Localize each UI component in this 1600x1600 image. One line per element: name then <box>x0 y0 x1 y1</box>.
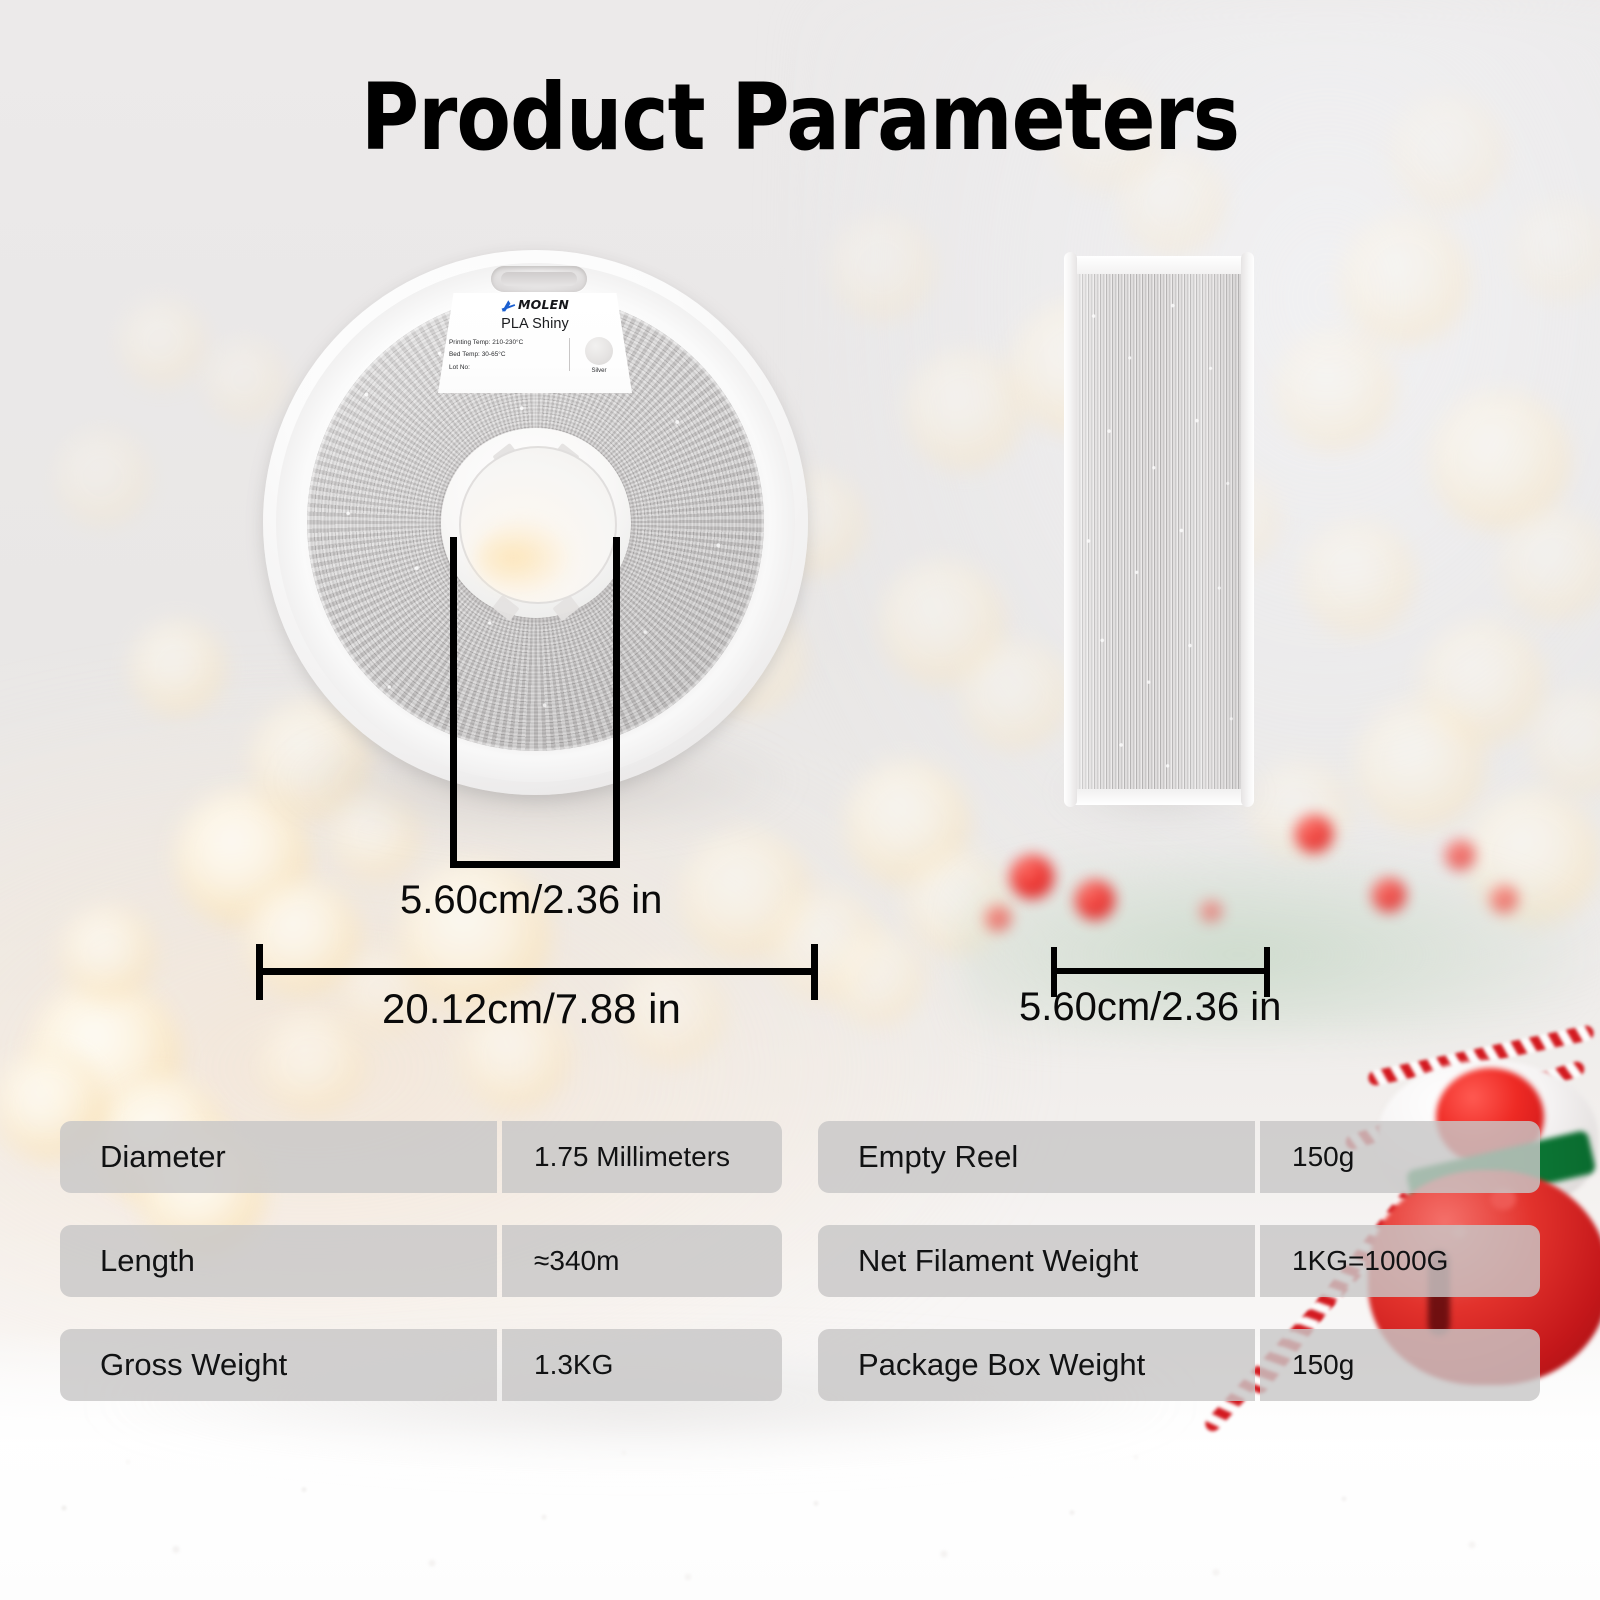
dim-bar <box>450 861 620 868</box>
spec-key-cell: Net Filament Weight <box>818 1225 1255 1297</box>
color-swatch-circle <box>585 337 613 365</box>
spec-pair: Empty Reel150g <box>800 1121 1540 1193</box>
red-berry <box>1295 815 1333 853</box>
dimension-label-spool-thickness: 5.60cm/2.36 in <box>1019 985 1281 1030</box>
spec-key-cell: Gross Weight <box>60 1329 497 1401</box>
label-spec-list: Printing Temp: 210-230°C Bed Temp: 30-65… <box>449 337 567 374</box>
bokeh-light <box>1275 330 1395 450</box>
side-spool-top-lip <box>1068 256 1250 274</box>
brand-logo: MOLEN <box>501 298 569 313</box>
spec-value-cell: 1KG=1000G <box>1260 1225 1540 1297</box>
side-spool-flange-right <box>1241 252 1254 807</box>
spec-key-cell: Length <box>60 1225 497 1297</box>
dim-tick-right <box>613 537 620 867</box>
dim-bar <box>256 968 818 975</box>
spec-pair: Package Box Weight150g <box>800 1329 1540 1401</box>
spec-key-cell: Diameter <box>60 1121 497 1193</box>
filament-spool-side <box>1064 252 1254 807</box>
brand-a-icon <box>501 299 516 313</box>
spec-value-cell: 1.3KG <box>502 1329 782 1401</box>
red-berry <box>1200 900 1222 922</box>
spec-value-cell: 150g <box>1260 1121 1540 1193</box>
bokeh-light <box>830 930 925 1025</box>
table-row: Diameter1.75 MillimetersEmpty Reel150g <box>60 1121 1540 1193</box>
spec-pair: Net Filament Weight1KG=1000G <box>800 1225 1540 1297</box>
spec-key-cell: Package Box Weight <box>818 1329 1255 1401</box>
table-row: Length≈340mNet Filament Weight1KG=1000G <box>60 1225 1540 1297</box>
spec-pair: Gross Weight1.3KG <box>60 1329 800 1401</box>
filament-spool-front: MOLEN PLA Shiny Printing Temp: 210-230°C… <box>263 250 808 806</box>
spool-label: MOLEN PLA Shiny Printing Temp: 210-230°C… <box>438 293 632 393</box>
red-berry <box>1445 840 1475 870</box>
bokeh-light <box>260 1010 365 1115</box>
bokeh-light <box>55 430 150 525</box>
dim-tick-left <box>450 537 457 867</box>
spec-pair: Length≈340m <box>60 1225 800 1297</box>
red-berry <box>985 905 1011 931</box>
label-divider <box>569 338 570 371</box>
side-spool-flange-left <box>1064 252 1077 807</box>
dimension-label-hub-width: 5.60cm/2.36 in <box>400 878 662 923</box>
side-filament-gloss <box>1073 269 1245 792</box>
hub-warm-glow <box>475 522 571 594</box>
label-material: PLA Shiny <box>501 316 569 332</box>
bokeh-light <box>960 640 1070 750</box>
side-filament-winding <box>1073 269 1245 792</box>
dim-bar <box>1051 968 1270 974</box>
bokeh-light <box>1510 200 1600 300</box>
spool-handle-hole <box>501 272 577 286</box>
label-color-swatch-group: Silver <box>577 337 621 374</box>
red-berry <box>1010 855 1054 899</box>
red-berry <box>1490 885 1518 913</box>
spec-value-cell: 150g <box>1260 1329 1540 1401</box>
label-body: Printing Temp: 210-230°C Bed Temp: 30-65… <box>438 337 632 374</box>
spec-pair: Diameter1.75 Millimeters <box>60 1121 800 1193</box>
brand-name: MOLEN <box>518 299 569 312</box>
spec-value-cell: ≈340m <box>502 1225 782 1297</box>
label-bed-temp: Bed Temp: 30-65°C <box>449 349 567 361</box>
label-color-name: Silver <box>591 368 606 374</box>
bokeh-light <box>1500 510 1600 620</box>
bokeh-light <box>1300 520 1415 635</box>
red-berry <box>1075 880 1115 920</box>
bokeh-light <box>1355 700 1485 830</box>
label-lot-no: Lot No: <box>449 362 567 374</box>
bokeh-light <box>60 905 155 1000</box>
dimension-label-outer-diameter: 20.12cm/7.88 in <box>382 985 681 1033</box>
page-title: Product Parameters <box>32 72 1568 164</box>
label-printing-temp: Printing Temp: 210-230°C <box>449 337 567 349</box>
bokeh-light <box>1430 390 1570 530</box>
bokeh-light <box>120 300 205 385</box>
spec-value-cell: 1.75 Millimeters <box>502 1121 782 1193</box>
spec-table: Diameter1.75 MillimetersEmpty Reel150gLe… <box>60 1121 1540 1433</box>
spec-key-cell: Empty Reel <box>818 1121 1255 1193</box>
bokeh-light <box>1340 215 1470 345</box>
bokeh-light <box>905 350 1025 470</box>
table-row: Gross Weight1.3KGPackage Box Weight150g <box>60 1329 1540 1401</box>
bokeh-light <box>830 215 935 320</box>
red-berry <box>1372 878 1406 912</box>
bokeh-light <box>130 620 225 715</box>
side-spool-bottom-lip <box>1068 789 1250 805</box>
